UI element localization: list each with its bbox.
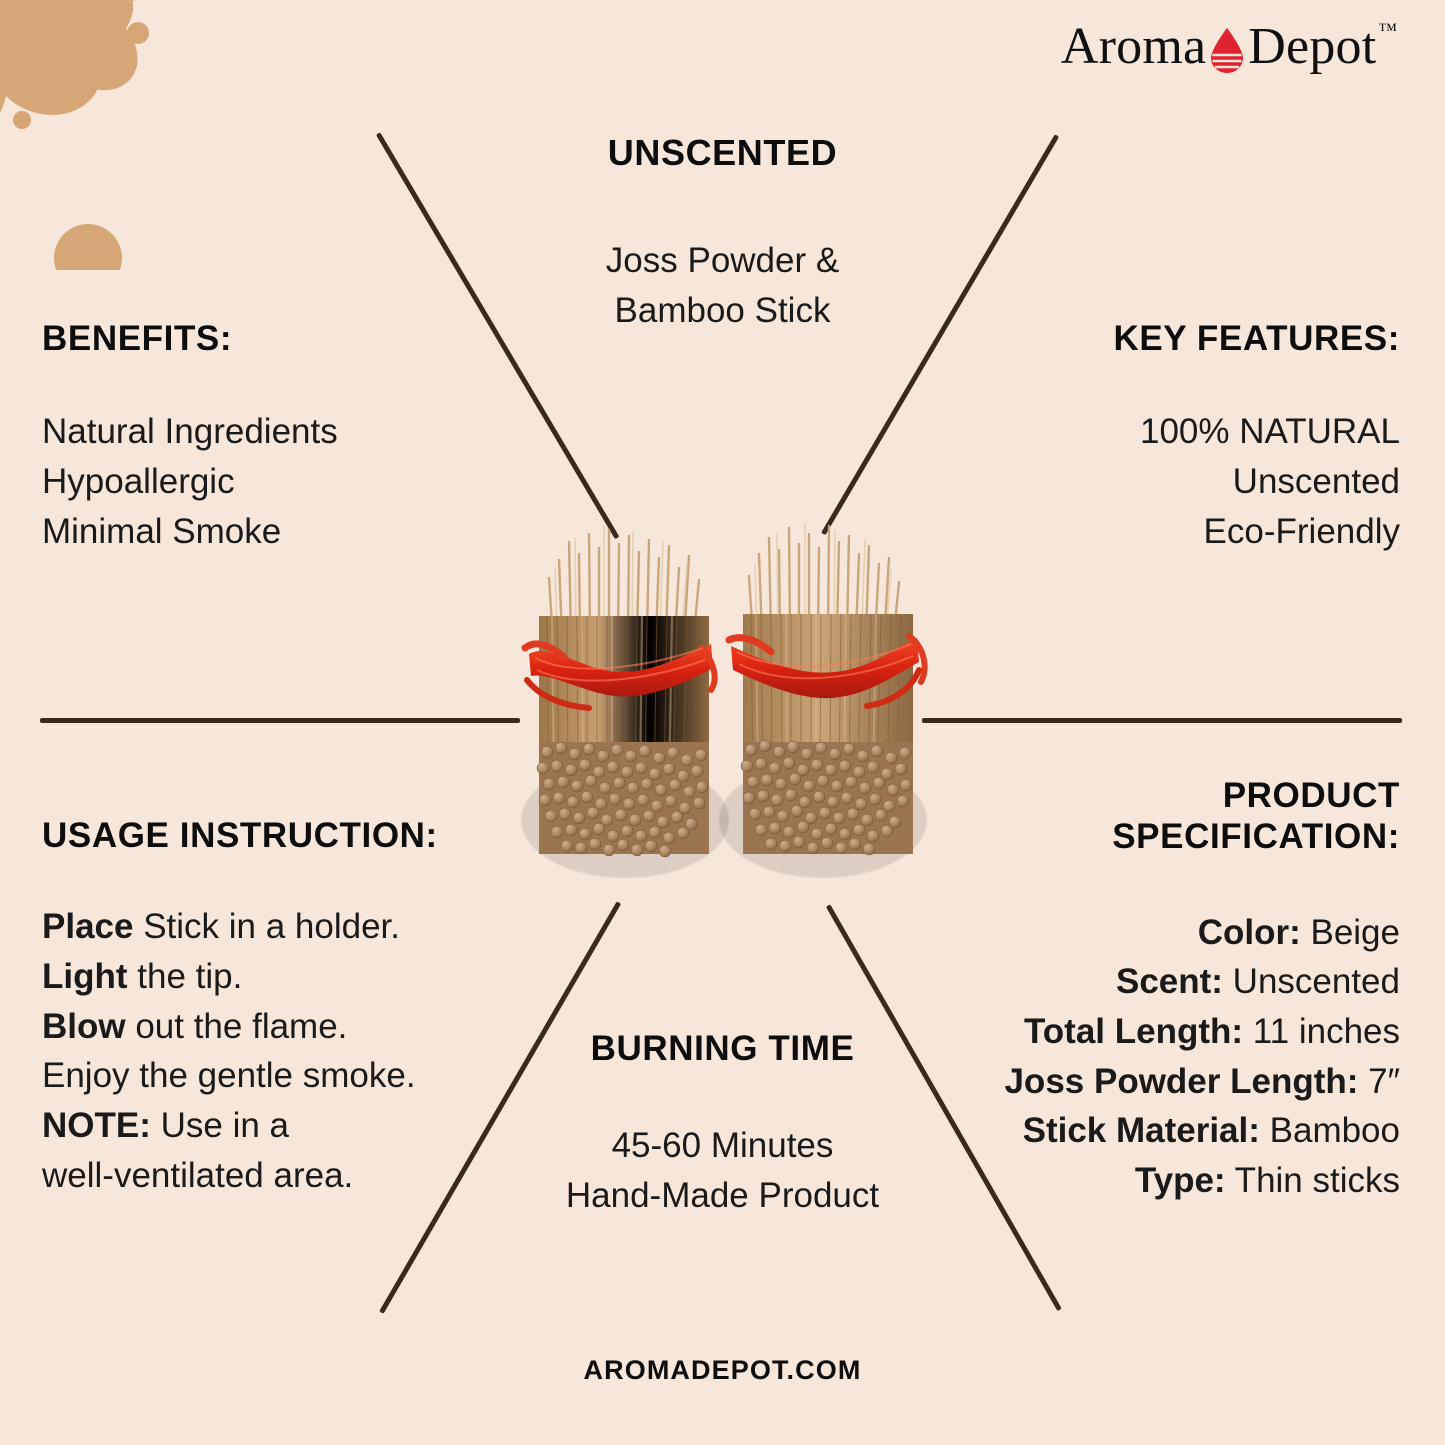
- trademark-symbol: ™: [1378, 20, 1397, 42]
- spec-value: Beige: [1301, 913, 1400, 952]
- divider-line-left: [40, 718, 520, 723]
- usage-heading: USAGE INSTRUCTION:: [42, 815, 438, 856]
- spec-rows: Color: Beige Scent: Unscented Total Leng…: [1004, 908, 1400, 1206]
- spec-label: Total Length:: [1024, 1012, 1243, 1051]
- spec-label: Type:: [1135, 1161, 1226, 1200]
- footer-website: AROMADEPOT.COM: [0, 1355, 1445, 1386]
- incense-bundles-product-image: [505, 520, 945, 880]
- usage-step: Place Stick in a holder.: [42, 902, 438, 952]
- spec-label: Scent:: [1116, 962, 1223, 1001]
- product-specification-section: PRODUCT SPECIFICATION: Color: Beige Scen…: [1004, 775, 1400, 1206]
- key-features-item: 100% NATURAL: [1113, 407, 1400, 457]
- spec-row: Type: Thin sticks: [1004, 1156, 1400, 1206]
- key-features-item: Unscented: [1113, 457, 1400, 507]
- brand-logo: Aroma Depot ™: [1061, 14, 1397, 80]
- divider-line-right: [922, 718, 1402, 723]
- unscented-heading: UNSCENTED: [0, 132, 1445, 174]
- spec-value: 7″: [1358, 1062, 1400, 1101]
- unscented-line: Joss Powder &: [0, 236, 1445, 286]
- spec-value: Thin sticks: [1226, 1161, 1400, 1200]
- benefits-list: Natural Ingredients Hypoallergic Minimal…: [42, 407, 338, 556]
- spec-value: 11 inches: [1243, 1012, 1400, 1051]
- key-features-heading: KEY FEATURES:: [1113, 318, 1400, 359]
- spec-row: Stick Material: Bamboo: [1004, 1106, 1400, 1156]
- usage-step-text: the tip.: [128, 957, 243, 996]
- red-droplet-icon: [1209, 27, 1245, 73]
- benefits-item: Hypoallergic: [42, 457, 338, 507]
- benefits-item: Natural Ingredients: [42, 407, 338, 457]
- logo-word-aroma: Aroma: [1061, 21, 1206, 73]
- spec-value: Unscented: [1223, 962, 1400, 1001]
- spec-label: Joss Powder Length:: [1004, 1062, 1358, 1101]
- unscented-section: UNSCENTED Joss Powder & Bamboo Stick: [0, 132, 1445, 336]
- spec-heading-line2: SPECIFICATION:: [1004, 816, 1400, 857]
- logo-word-depot: Depot: [1248, 21, 1376, 73]
- key-features-item: Eco-Friendly: [1113, 507, 1400, 557]
- spec-label: Color:: [1198, 913, 1301, 952]
- usage-step-bold: Light: [42, 957, 128, 996]
- infographic-page: Aroma Depot ™: [0, 0, 1445, 1445]
- spec-heading-line1: PRODUCT: [1004, 775, 1400, 816]
- benefits-heading: BENEFITS:: [42, 318, 338, 359]
- spec-row: Total Length: 11 inches: [1004, 1007, 1400, 1057]
- usage-step-bold: Place: [42, 907, 133, 946]
- usage-step: Light the tip.: [42, 952, 438, 1002]
- spec-row: Scent: Unscented: [1004, 957, 1400, 1007]
- spec-label: Stick Material:: [1023, 1111, 1260, 1150]
- usage-step-text: Stick in a holder.: [133, 907, 400, 946]
- spec-row: Color: Beige: [1004, 908, 1400, 958]
- benefits-section: BENEFITS: Natural Ingredients Hypoallerg…: [42, 318, 338, 556]
- spec-row: Joss Powder Length: 7″: [1004, 1057, 1400, 1107]
- key-features-section: KEY FEATURES: 100% NATURAL Unscented Eco…: [1113, 318, 1400, 556]
- key-features-list: 100% NATURAL Unscented Eco-Friendly: [1113, 407, 1400, 556]
- benefits-item: Minimal Smoke: [42, 507, 338, 557]
- spec-value: Bamboo: [1260, 1111, 1400, 1150]
